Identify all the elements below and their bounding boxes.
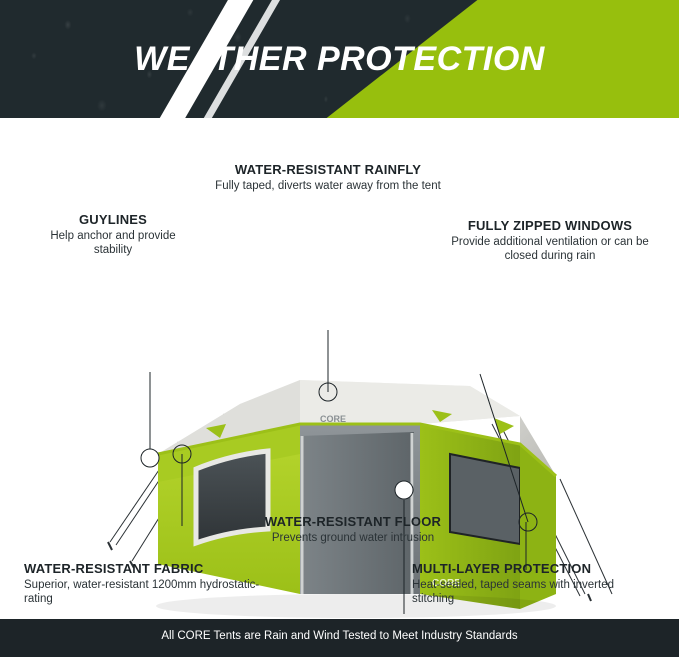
callout-guylines-desc: Help anchor and provide stability [38,229,188,257]
weather-protection-infographic: WEATHER PROTECTION [0,0,679,657]
callout-multi-layer-protection: MULTI-LAYER PROTECTION Heat-sealed, tape… [412,561,652,606]
callout-rainfly-desc: Fully taped, diverts water away from the… [208,179,448,193]
callout-guylines-title: GUYLINES [38,212,188,228]
footer-banner: All CORE Tents are Rain and Wind Tested … [0,619,679,657]
callout-fabric-title: WATER-RESISTANT FABRIC [24,561,264,577]
callout-water-resistant-floor: WATER-RESISTANT FLOOR Prevents ground wa… [228,514,478,545]
callout-water-resistant-fabric: WATER-RESISTANT FABRIC Superior, water-r… [24,561,264,606]
callout-marker-floor [395,481,413,499]
callout-windows-desc: Provide additional ventilation or can be… [440,235,660,263]
callout-multilayer-desc: Heat-sealed, taped seams with inverted s… [412,578,652,606]
callout-multilayer-title: MULTI-LAYER PROTECTION [412,561,652,577]
page-title: WEATHER PROTECTION [0,40,679,79]
callout-marker-guylines [141,449,159,467]
callout-rainfly-title: WATER-RESISTANT RAINFLY [208,162,448,178]
callout-water-resistant-rainfly: WATER-RESISTANT RAINFLY Fully taped, div… [208,162,448,193]
callout-fully-zipped-windows: FULLY ZIPPED WINDOWS Provide additional … [440,218,660,263]
callout-windows-title: FULLY ZIPPED WINDOWS [440,218,660,234]
footer-text: All CORE Tents are Rain and Wind Tested … [0,630,679,642]
callout-floor-title: WATER-RESISTANT FLOOR [228,514,478,530]
brand-logo-rainfly: CORE [320,414,346,424]
callout-fabric-desc: Superior, water-resistant 1200mm hydrost… [24,578,264,606]
tent-diagram: CORE CORE [0,124,679,619]
tent-door [300,432,414,594]
callout-guylines: GUYLINES Help anchor and provide stabili… [38,212,188,257]
callout-floor-desc: Prevents ground water intrusion [228,531,478,545]
header-banner: WEATHER PROTECTION [0,0,679,124]
